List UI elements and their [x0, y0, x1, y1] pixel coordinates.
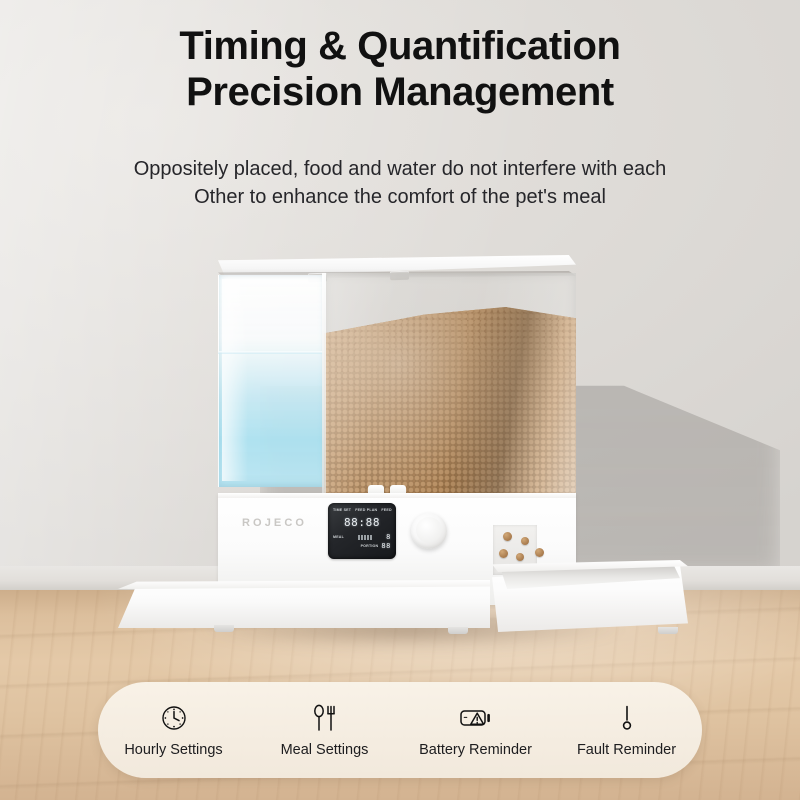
page-title: Timing & Quantification Precision Manage… [0, 24, 800, 115]
lcd-meal-value: 8 [386, 533, 391, 541]
subtitle-line-1: Oppositely placed, food and water do not… [0, 155, 800, 183]
falling-kibble [503, 532, 512, 541]
battery-warning-icon [459, 703, 493, 733]
product-scene: Timing & Quantification Precision Manage… [0, 0, 800, 800]
lcd-label-time-set: TIME SET [333, 508, 351, 512]
lcd-clock-value: 88:88 [344, 517, 380, 528]
falling-kibble [499, 549, 508, 558]
feature-label: Hourly Settings [124, 742, 222, 758]
lcd-bar-indicator-icon [358, 535, 372, 540]
lcd-clock-row: 88:88 [333, 513, 391, 531]
feature-hourly-settings[interactable]: Hourly Settings [98, 703, 249, 758]
tank-hopper-divider [322, 273, 326, 495]
kibble-shading [324, 307, 576, 495]
food-hopper [324, 273, 576, 495]
feature-battery-reminder[interactable]: Battery Reminder [400, 703, 551, 758]
brand-logo: ROJECO [242, 517, 307, 529]
feature-fault-reminder[interactable]: Fault Reminder [551, 703, 702, 758]
lcd-display-panel[interactable]: TIME SET FEED PLAN FEED 88:88 MEAL 8 POR… [328, 503, 396, 559]
lcd-label-portion: PORTION [361, 544, 379, 548]
water-level-line [218, 351, 325, 354]
lcd-meal-row: MEAL 8 [333, 533, 391, 541]
lcd-label-feed: FEED [381, 508, 391, 512]
feature-meal-settings[interactable]: Meal Settings [249, 703, 400, 758]
exclamation-icon [620, 703, 634, 733]
device-foot-mid [448, 627, 468, 634]
pet-feeder-device: ROJECO TIME SET FEED PLAN FEED 88:88 MEA… [118, 255, 688, 645]
headline-line-1: Timing & Quantification [0, 24, 800, 70]
feature-bar: Hourly Settings Meal Settings [98, 682, 702, 778]
headline-line-2: Precision Management [0, 70, 800, 116]
control-knob[interactable] [411, 513, 447, 549]
water-tank-highlight [222, 279, 248, 481]
feature-label: Battery Reminder [419, 742, 532, 758]
lcd-label-feed-plan: FEED PLAN [355, 508, 377, 512]
lcd-label-meal: MEAL [333, 535, 344, 539]
feature-label: Meal Settings [281, 742, 369, 758]
clock-icon [160, 703, 188, 733]
feature-label: Fault Reminder [577, 742, 676, 758]
lcd-label-row: TIME SET FEED PLAN FEED [333, 507, 391, 512]
falling-kibble [516, 553, 524, 561]
lcd-portion-value: 88 [381, 542, 391, 550]
subtitle-line-2: Other to enhance the comfort of the pet'… [0, 183, 800, 211]
lcd-portion-row: PORTION 88 [333, 542, 391, 550]
falling-kibble [521, 537, 529, 545]
device-body-top-edge [218, 493, 576, 498]
falling-kibble [535, 548, 544, 557]
spoon-fork-icon [311, 703, 339, 733]
device-foot-left [214, 625, 234, 632]
page-subtitle: Oppositely placed, food and water do not… [0, 155, 800, 212]
device-foot-right [658, 627, 678, 634]
